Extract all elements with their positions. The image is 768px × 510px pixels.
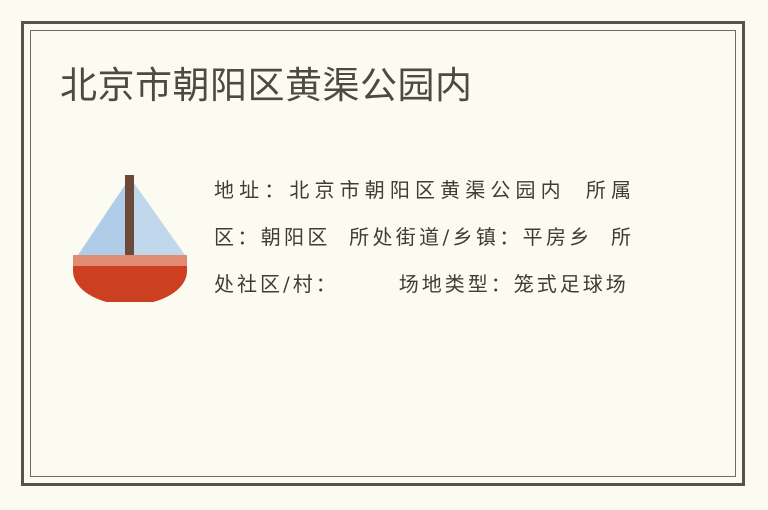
address-label: 地址： bbox=[214, 178, 289, 202]
street-label: 所处街道/乡镇： bbox=[349, 225, 523, 249]
venue-details: 地址：北京市朝阳区黄渠公园内所属区：朝阳区所处街道/乡镇：平房乡所处社区/村：场… bbox=[214, 167, 634, 308]
venue-type-label: 场地类型： bbox=[399, 272, 514, 296]
street-value: 平房乡 bbox=[523, 225, 593, 249]
info-card: 北京市朝阳区黄渠公园内 地址：北京市朝阳区黄渠公园内所属区：朝阳区所处街道/乡镇… bbox=[21, 21, 745, 486]
sailboat-icon bbox=[70, 167, 210, 302]
page-title: 北京市朝阳区黄渠公园内 bbox=[60, 64, 473, 108]
district-value: 朝阳区 bbox=[261, 225, 331, 249]
card-content: 地址：北京市朝阳区黄渠公园内所属区：朝阳区所处街道/乡镇：平房乡所处社区/村：场… bbox=[24, 139, 742, 439]
address-value: 北京市朝阳区黄渠公园内 bbox=[289, 178, 565, 202]
venue-type-value: 笼式足球场 bbox=[514, 272, 629, 296]
